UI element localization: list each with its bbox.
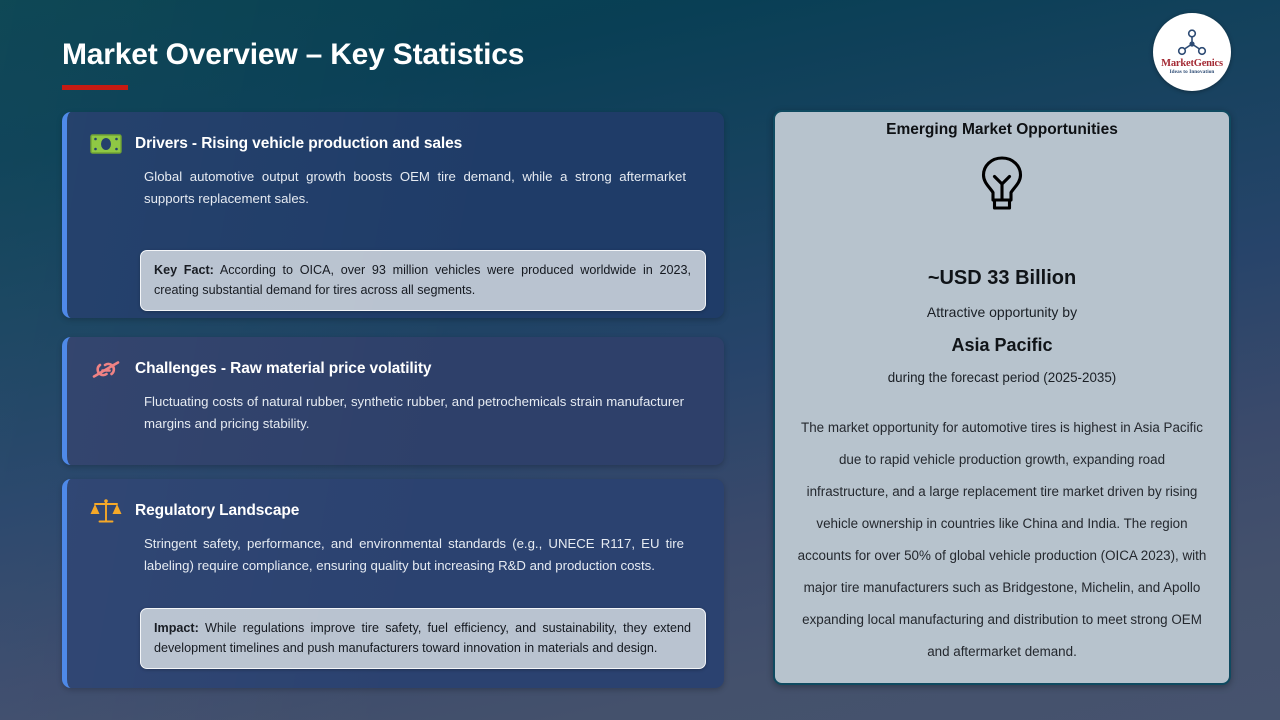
- banknote-icon: [89, 129, 123, 159]
- logo-brand-name: MarketGenics: [1161, 58, 1223, 69]
- title-underline-rule: [62, 85, 128, 90]
- company-logo: MarketGenics Ideas to Innovation: [1153, 13, 1231, 91]
- card-challenges-body: Fluctuating costs of natural rubber, syn…: [67, 384, 724, 435]
- card-challenges-header: Challenges - Raw material price volatili…: [67, 337, 724, 384]
- regulatory-callout-text: While regulations improve tire safety, f…: [154, 621, 691, 655]
- card-regulatory-body: Stringent safety, performance, and envir…: [67, 526, 724, 577]
- lightbulb-icon: [976, 154, 1028, 216]
- card-drivers-header: Drivers - Rising vehicle production and …: [67, 112, 724, 159]
- card-regulatory-title: Regulatory Landscape: [135, 502, 299, 520]
- drivers-callout-label: Key Fact:: [154, 263, 214, 277]
- drivers-key-fact-callout: Key Fact: According to OICA, over 93 mil…: [140, 250, 706, 311]
- broken-link-icon: [89, 354, 123, 384]
- card-drivers-title: Drivers - Rising vehicle production and …: [135, 135, 462, 153]
- balance-scales-icon: [89, 496, 123, 526]
- panel-description-paragraph: The market opportunity for automotive ti…: [797, 412, 1207, 668]
- panel-subtitle-attractive: Attractive opportunity by: [775, 304, 1229, 320]
- regulatory-impact-callout: Impact: While regulations improve tire s…: [140, 608, 706, 669]
- network-nodes-icon: [1175, 29, 1209, 57]
- panel-forecast-period: during the forecast period (2025-2035): [775, 370, 1229, 385]
- slide-canvas: Market Overview – Key Statistics MarketG…: [0, 0, 1280, 720]
- card-regulatory-header: Regulatory Landscape: [67, 479, 724, 526]
- card-challenges[interactable]: Challenges - Raw material price volatili…: [62, 337, 724, 465]
- emerging-market-opportunities-panel: Emerging Market Opportunities ~USD 33 Bi…: [773, 110, 1231, 685]
- regulatory-callout-label: Impact:: [154, 621, 199, 635]
- panel-icon-wrapper: [775, 154, 1229, 216]
- logo-tagline: Ideas to Innovation: [1170, 69, 1215, 76]
- card-challenges-title: Challenges - Raw material price volatili…: [135, 360, 431, 378]
- drivers-callout-text: According to OICA, over 93 million vehic…: [154, 263, 691, 297]
- panel-opportunity-value: ~USD 33 Billion: [775, 267, 1229, 290]
- panel-title: Emerging Market Opportunities: [775, 121, 1229, 139]
- page-title: Market Overview – Key Statistics: [62, 38, 524, 72]
- panel-region: Asia Pacific: [775, 335, 1229, 356]
- card-drivers-body: Global automotive output growth boosts O…: [67, 159, 724, 210]
